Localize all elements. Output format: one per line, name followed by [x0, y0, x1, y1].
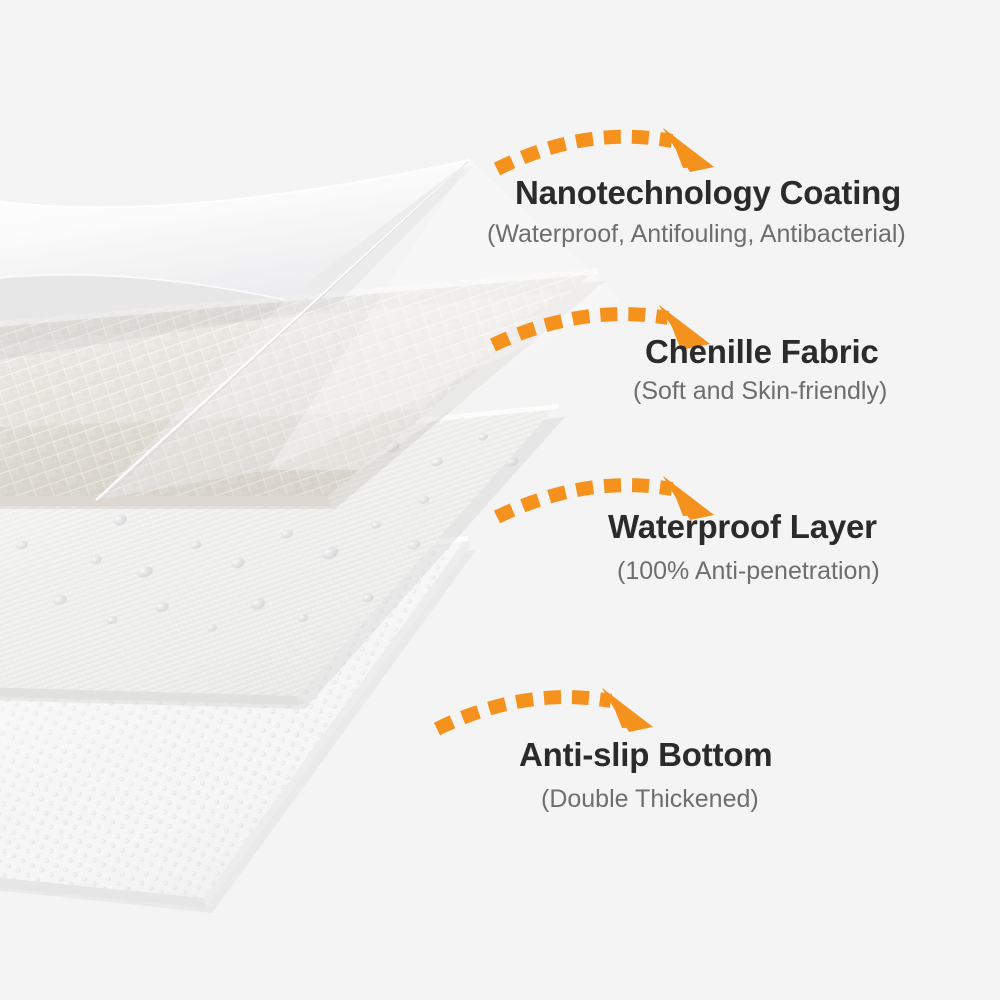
annotation-subtitle: (Double Thickened)	[541, 787, 759, 812]
annotation-title: Anti-slip Bottom	[519, 738, 772, 771]
product-layer-infographic: Nanotechnology Coating (Waterproof, Anti…	[0, 0, 1000, 1000]
arrow-anti-slip-bottom	[0, 0, 1000, 1000]
